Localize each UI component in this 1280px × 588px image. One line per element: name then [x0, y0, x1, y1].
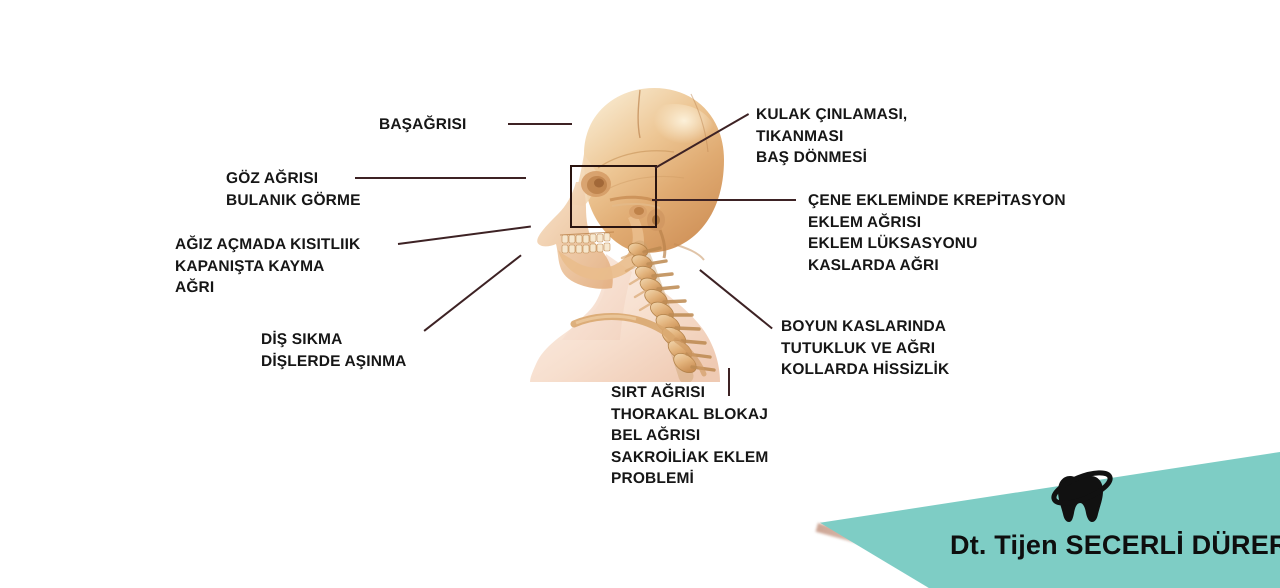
mouth-opening-label-line-0: AĞIZ AÇMADA KISITLIIK	[175, 234, 360, 256]
bruxism-label-line-1: DİŞLERDE AŞINMA	[261, 351, 407, 373]
headache-label-line-0: BAŞAĞRISI	[379, 114, 466, 136]
eye-pain-label-line-0: GÖZ AĞRISI	[226, 168, 361, 190]
neck-muscles-label-line-2: KOLLARDA HİSSİZLİK	[781, 359, 949, 381]
jaw-joint-label-line-0: ÇENE EKLEMİNDE KREPİTASYON	[808, 190, 1066, 212]
mouth-opening-label-line-2: AĞRI	[175, 277, 360, 299]
tmj-highlight-box	[570, 165, 657, 228]
neck-muscles-label-line-1: TUTUKLUK VE AĞRI	[781, 338, 949, 360]
jaw-joint-label-line-3: KASLARDA AĞRI	[808, 255, 1066, 277]
brand-watermark: Dt. Tijen SECERLİ DÜRER	[818, 452, 1280, 588]
jaw-joint-label-line-2: EKLEM LÜKSASYONU	[808, 233, 1066, 255]
back-pain-label: SIRT AĞRISI THORAKAL BLOKAJ BEL AĞRISI S…	[611, 382, 768, 490]
neck-muscles-label: BOYUN KASLARINDA TUTUKLUK VE AĞRI KOLLAR…	[781, 316, 949, 381]
ear-symptoms-label-line-2: BAŞ DÖNMESİ	[756, 147, 907, 169]
headache-label: BAŞAĞRISI	[379, 114, 466, 136]
ear-symptoms-label: KULAK ÇINLAMASI, TIKANMASI BAŞ DÖNMESİ	[756, 104, 907, 169]
back-pain-label-line-1: THORAKAL BLOKAJ	[611, 404, 768, 426]
infographic-canvas: BAŞAĞRISI GÖZ AĞRISI BULANIK GÖRME AĞIZ …	[0, 0, 1280, 588]
jaw-joint-label: ÇENE EKLEMİNDE KREPİTASYON EKLEM AĞRISI …	[808, 190, 1066, 276]
back-pain-label-line-2: BEL AĞRISI	[611, 425, 768, 447]
back-pain-label-line-3: SAKROİLİAK EKLEM	[611, 447, 768, 469]
leader-line-headache	[508, 123, 572, 125]
brand-name: Dt. Tijen SECERLİ DÜRER	[950, 530, 1270, 561]
mouth-opening-label-line-1: KAPANIŞTA KAYMA	[175, 256, 360, 278]
back-pain-label-line-0: SIRT AĞRISI	[611, 382, 768, 404]
tooth-orbit-icon	[1046, 464, 1120, 526]
ear-symptoms-label-line-1: TIKANMASI	[756, 126, 907, 148]
neck-muscles-label-line-0: BOYUN KASLARINDA	[781, 316, 949, 338]
bruxism-label: DİŞ SIKMA DİŞLERDE AŞINMA	[261, 329, 407, 372]
bruxism-label-line-0: DİŞ SIKMA	[261, 329, 407, 351]
leader-line-eye-pain	[355, 177, 526, 179]
eye-pain-label: GÖZ AĞRISI BULANIK GÖRME	[226, 168, 361, 211]
leader-line-jaw-joint	[652, 199, 796, 201]
eye-pain-label-line-1: BULANIK GÖRME	[226, 190, 361, 212]
jaw-joint-label-line-1: EKLEM AĞRISI	[808, 212, 1066, 234]
mouth-opening-label: AĞIZ AÇMADA KISITLIIK KAPANIŞTA KAYMA AĞ…	[175, 234, 360, 299]
back-pain-label-line-4: PROBLEMİ	[611, 468, 768, 490]
ear-symptoms-label-line-0: KULAK ÇINLAMASI,	[756, 104, 907, 126]
